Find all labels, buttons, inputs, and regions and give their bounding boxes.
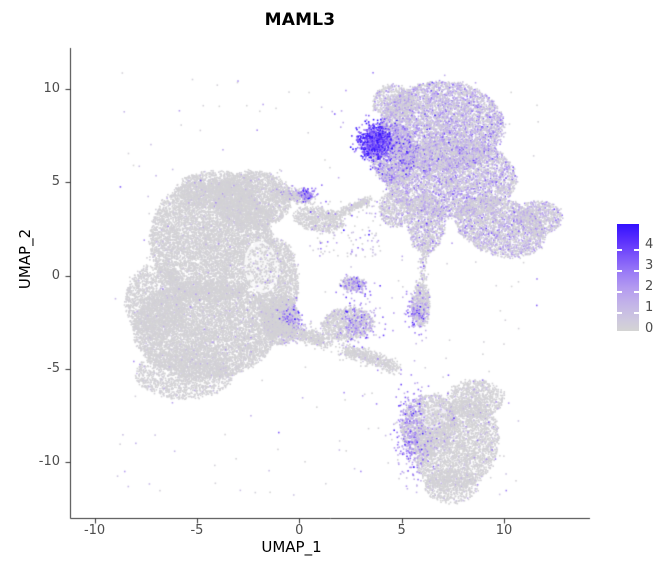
colorbar-tick-label: 2 [645, 279, 665, 294]
y-tick-label: 10 [20, 81, 60, 96]
y-tick-label: -10 [20, 454, 60, 469]
colorbar-tick [617, 291, 622, 293]
y-axis-label: UMAP_2 [16, 179, 34, 339]
colorbar-tick [634, 249, 639, 251]
x-tick-label: 5 [382, 523, 422, 538]
colorbar-tick-label: 1 [645, 300, 665, 315]
x-tick-label: 0 [279, 523, 319, 538]
x-tick-label: -10 [75, 523, 115, 538]
x-axis-label: UMAP_1 [70, 538, 513, 556]
y-tick-label: 5 [20, 174, 60, 189]
colorbar-tick [617, 312, 622, 314]
x-tick-label: 10 [484, 523, 524, 538]
colorbar-tick [634, 291, 639, 293]
y-tick-label: -5 [20, 361, 60, 376]
colorbar-tick [617, 249, 622, 251]
colorbar-tick [617, 270, 622, 272]
umap-figure: MAML3 UMAP_1 UMAP_2 -10 -5 0 5 10 10 5 0… [0, 0, 672, 576]
colorbar-tick-label: 4 [645, 237, 665, 252]
x-tick-label: -5 [177, 523, 217, 538]
colorbar-legend [617, 224, 639, 331]
scatter-plot-area [0, 0, 672, 576]
colorbar-tick [634, 312, 639, 314]
colorbar-tick-label: 3 [645, 258, 665, 273]
scatter-canvas [0, 0, 672, 576]
y-tick-label: 0 [20, 268, 60, 283]
colorbar-tick [634, 270, 639, 272]
colorbar-gradient [617, 224, 639, 331]
colorbar-tick-label: 0 [645, 321, 665, 336]
